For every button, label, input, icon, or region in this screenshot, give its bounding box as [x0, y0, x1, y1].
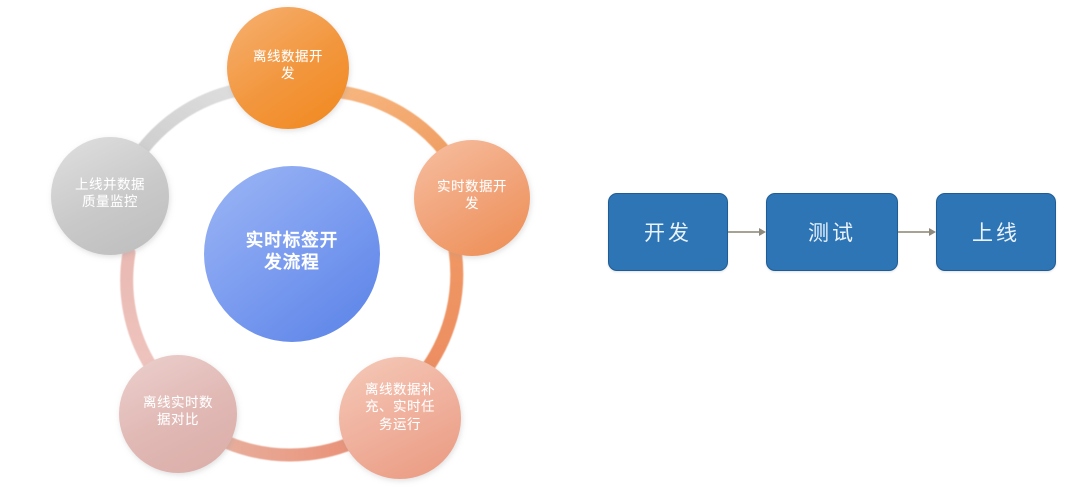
- flow-step-row: 开发 测试 上线: [560, 193, 1056, 271]
- center-bubble: [204, 166, 380, 342]
- flow-diagram: 开发 测试 上线: [560, 0, 1080, 495]
- flow-step-develop[interactable]: 开发: [608, 193, 728, 271]
- ring-segment-bottom-left-to-left: [127, 253, 152, 368]
- ring-segment-top-to-right: [341, 92, 446, 153]
- flow-step-test-label: 测试: [808, 217, 856, 247]
- ring-segment-right-to-bottom-right: [428, 250, 457, 367]
- flow-arrow-1-head: [759, 228, 766, 236]
- flow-arrow-1-icon: [728, 226, 766, 238]
- flow-arrow-2-head: [929, 228, 936, 236]
- cycle-diagram: 离线数据开 发 实时数据开 发 离线数据补 充、实时任 务运行 离线实时数 据对…: [0, 0, 560, 495]
- node-bubble-left[interactable]: [51, 137, 169, 255]
- flow-step-launch-label: 上线: [972, 217, 1020, 247]
- flow-step-launch[interactable]: 上线: [936, 193, 1056, 271]
- flow-arrow-2-icon: [898, 226, 936, 238]
- flow-step-develop-label: 开发: [644, 217, 692, 247]
- flow-arrow-2-shaft: [898, 231, 929, 233]
- flow-step-test[interactable]: 测试: [766, 193, 898, 271]
- ring-segment-bottom-right-to-bottom-left: [226, 442, 354, 455]
- ring-segment-left-to-top: [143, 89, 243, 149]
- cycle-diagram-graphic: [0, 0, 560, 495]
- diagram-canvas: 离线数据开 发 实时数据开 发 离线数据补 充、实时任 务运行 离线实时数 据对…: [0, 0, 1080, 495]
- flow-arrow-1-shaft: [728, 231, 759, 233]
- node-bubble-right[interactable]: [414, 140, 530, 256]
- node-bubble-bottom-left[interactable]: [119, 355, 237, 473]
- node-bubble-top[interactable]: [227, 7, 349, 129]
- node-bubble-bottom-right[interactable]: [339, 357, 461, 479]
